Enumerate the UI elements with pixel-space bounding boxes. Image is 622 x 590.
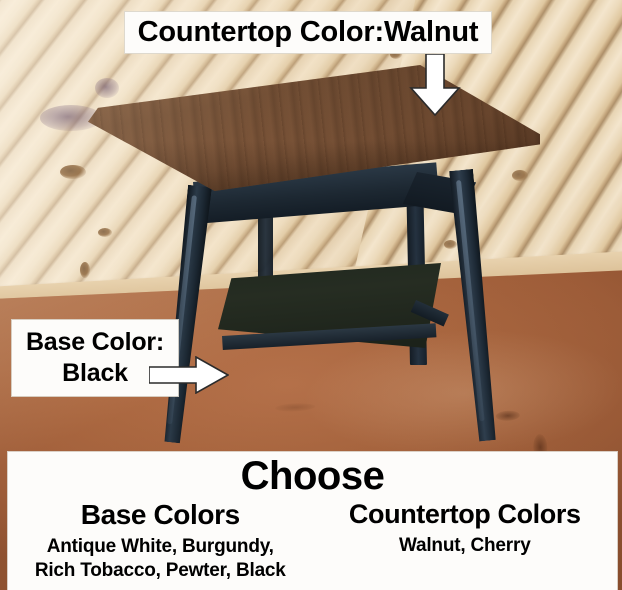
color-options-panel: Choose Base Colors Antique White, Burgun… — [8, 452, 617, 590]
countertop-color-label-text: Countertop Color:Walnut — [138, 16, 479, 49]
arrow-down-icon — [409, 54, 461, 116]
countertop-colors-list: Walnut, Cherry — [313, 534, 618, 558]
arrow-right-icon — [149, 356, 229, 394]
choose-heading: Choose — [8, 452, 617, 496]
wood-knot-icon — [98, 228, 112, 237]
wood-knot-icon — [512, 170, 528, 181]
base-color-label-line1: Base Color: — [26, 327, 164, 358]
wall-smudge — [95, 78, 119, 98]
countertop-colors-heading: Countertop Colors — [313, 500, 618, 530]
base-colors-line-1: Antique White, Burgundy, — [8, 535, 313, 559]
countertop-colors-line-1: Walnut, Cherry — [313, 534, 618, 558]
product-photo-listing-image: Countertop Color:Walnut Base Color: Blac… — [0, 0, 622, 590]
base-color-label-line2: Black — [62, 358, 128, 389]
base-colors-line-2: Rich Tobacco, Pewter, Black — [8, 559, 313, 583]
color-options-columns: Base Colors Antique White, Burgundy, Ric… — [8, 500, 617, 582]
countertop-colors-column: Countertop Colors Walnut, Cherry — [313, 500, 618, 582]
wood-knot-icon — [80, 262, 90, 278]
base-colors-heading: Base Colors — [8, 500, 313, 531]
base-colors-column: Base Colors Antique White, Burgundy, Ric… — [8, 500, 313, 582]
countertop-color-label: Countertop Color:Walnut — [125, 12, 491, 53]
wood-knot-icon — [444, 240, 457, 249]
base-colors-list: Antique White, Burgundy, Rich Tobacco, P… — [8, 535, 313, 583]
wood-knot-icon — [60, 165, 86, 179]
